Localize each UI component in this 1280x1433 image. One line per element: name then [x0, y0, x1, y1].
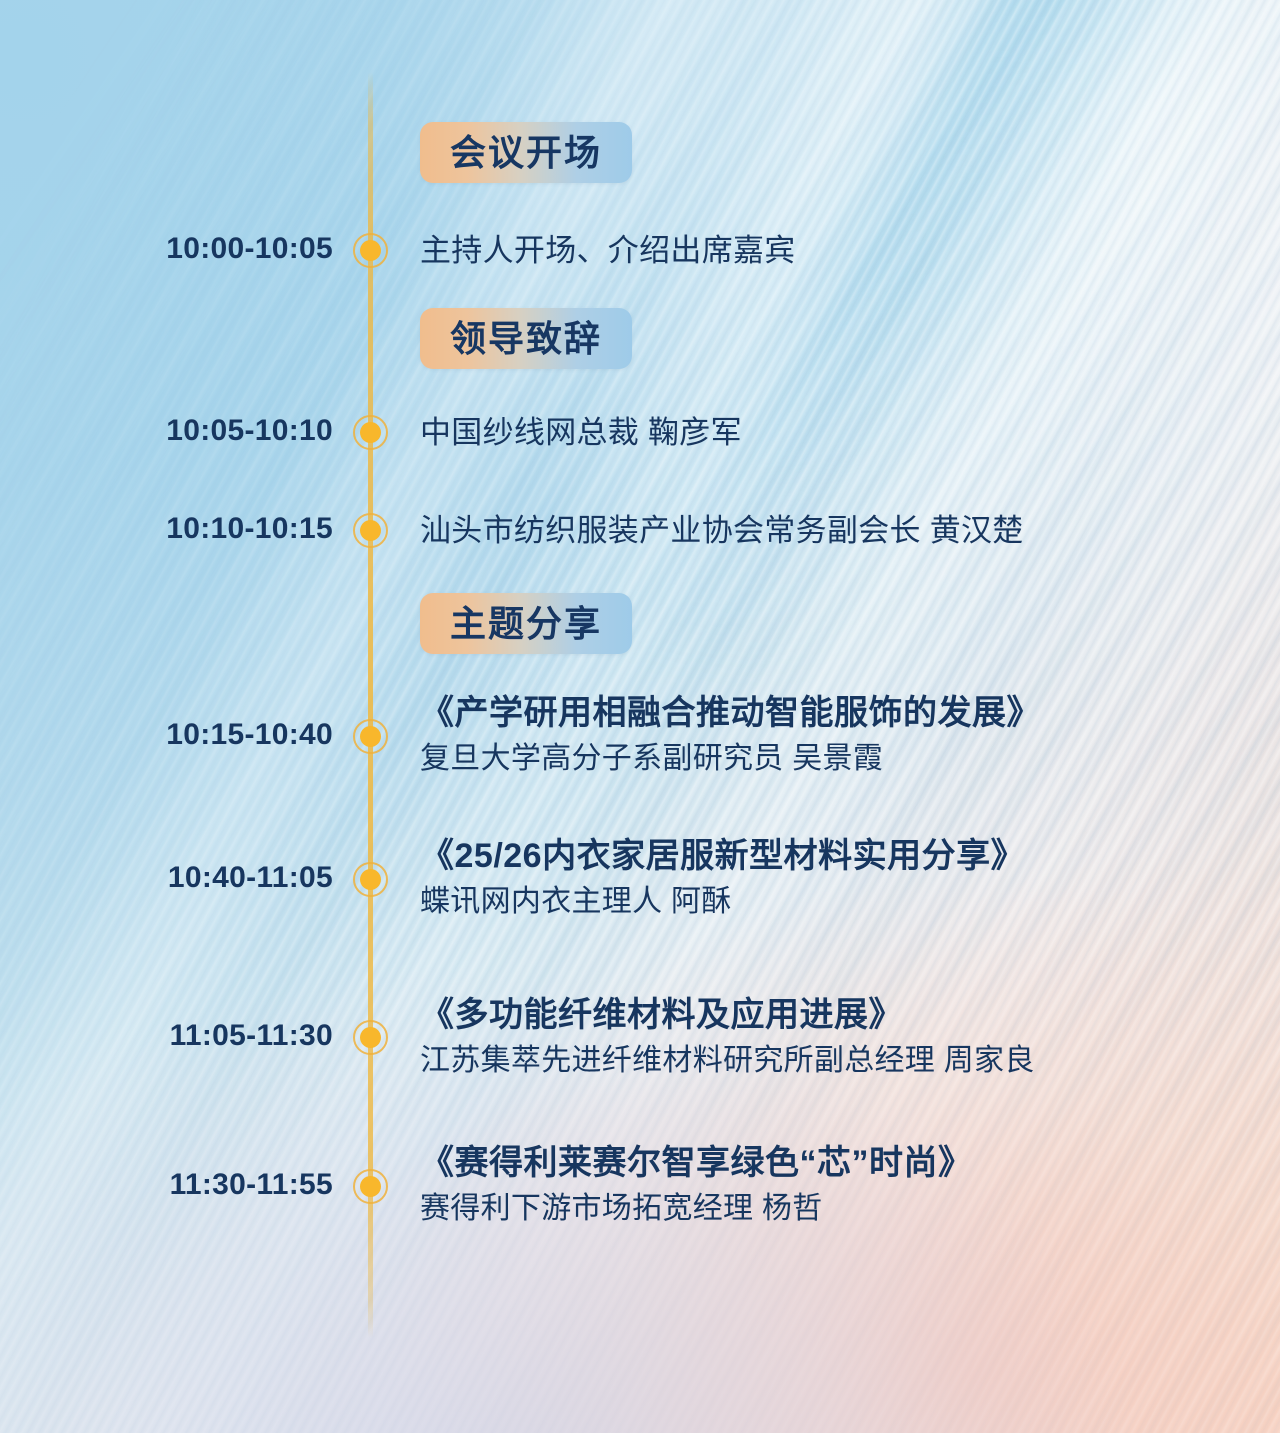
timeline-dot-6	[353, 1020, 388, 1055]
entry-body-3: 汕头市纺织服装产业协会常务副会长 黄汉楚	[420, 512, 1024, 549]
timeline-dot-core-icon	[360, 422, 381, 443]
timeline-dot-1	[353, 233, 388, 268]
entry-title-4: 《产学研用相融合推动智能服饰的发展》	[420, 693, 1041, 733]
agenda-content: 会议开场 10:00-10:05 主持人开场、介绍出席嘉宾 领导致辞 10:05…	[0, 0, 1280, 1433]
entry-title-7: 《赛得利莱赛尔智享绿色“芯”时尚》	[420, 1143, 973, 1183]
entry-body-4: 《产学研用相融合推动智能服饰的发展》 复旦大学高分子系副研究员 吴景霞	[420, 693, 1041, 777]
entry-speaker-1: 主持人开场、介绍出席嘉宾	[420, 232, 796, 269]
entry-time-3: 10:10-10:15	[0, 512, 333, 546]
entry-title-5: 《25/26内衣家居服新型材料实用分享》	[420, 836, 1025, 876]
entry-speaker-6: 江苏集萃先进纤维材料研究所副总经理 周家良	[420, 1043, 1035, 1079]
timeline-dot-core-icon	[360, 869, 381, 890]
agenda-poster: 会议开场 10:00-10:05 主持人开场、介绍出席嘉宾 领导致辞 10:05…	[0, 0, 1280, 1433]
entry-time-2: 10:05-10:10	[0, 414, 333, 448]
entry-body-5: 《25/26内衣家居服新型材料实用分享》 蝶讯网内衣主理人 阿酥	[420, 836, 1025, 920]
entry-body-6: 《多功能纤维材料及应用进展》 江苏集萃先进纤维材料研究所副总经理 周家良	[420, 995, 1035, 1079]
timeline-dot-4	[353, 719, 388, 754]
entry-speaker-7: 赛得利下游市场拓宽经理 杨哲	[420, 1191, 973, 1227]
timeline-dot-core-icon	[360, 240, 381, 261]
section-badge-opening: 会议开场	[420, 122, 632, 183]
entry-time-6: 11:05-11:30	[0, 1019, 333, 1053]
entry-time-7: 11:30-11:55	[0, 1168, 333, 1202]
timeline-dot-2	[353, 415, 388, 450]
timeline-dot-7	[353, 1169, 388, 1204]
timeline-dot-core-icon	[360, 1176, 381, 1197]
entry-time-5: 10:40-11:05	[0, 861, 333, 895]
entry-speaker-3: 汕头市纺织服装产业协会常务副会长 黄汉楚	[420, 512, 1024, 549]
timeline-dot-5	[353, 862, 388, 897]
entry-speaker-5: 蝶讯网内衣主理人 阿酥	[420, 884, 1025, 920]
section-badge-keynote-sharing: 主题分享	[420, 593, 632, 654]
timeline-dot-core-icon	[360, 1027, 381, 1048]
entry-time-1: 10:00-10:05	[0, 232, 333, 266]
entry-body-1: 主持人开场、介绍出席嘉宾	[420, 232, 796, 269]
entry-body-7: 《赛得利莱赛尔智享绿色“芯”时尚》 赛得利下游市场拓宽经理 杨哲	[420, 1143, 973, 1227]
entry-speaker-2: 中国纱线网总裁 鞠彦军	[420, 414, 742, 451]
timeline-dot-core-icon	[360, 520, 381, 541]
timeline-dot-3	[353, 513, 388, 548]
entry-title-6: 《多功能纤维材料及应用进展》	[420, 995, 1035, 1035]
timeline-dot-core-icon	[360, 726, 381, 747]
entry-time-4: 10:15-10:40	[0, 718, 333, 752]
section-badge-leader-speech: 领导致辞	[420, 308, 632, 369]
entry-speaker-4: 复旦大学高分子系副研究员 吴景霞	[420, 741, 1041, 777]
entry-body-2: 中国纱线网总裁 鞠彦军	[420, 414, 742, 451]
